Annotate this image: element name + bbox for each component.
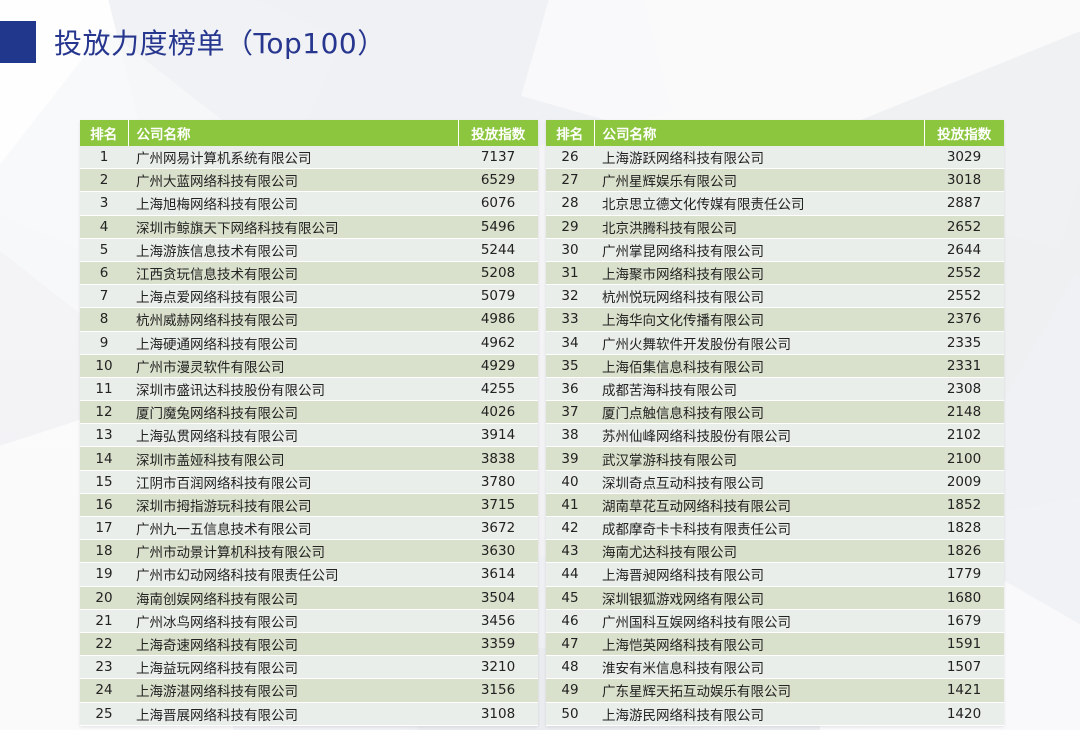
ranking-table-left-wrapper: 排名 公司名称 投放指数 1广州网易计算机系统有限公司71372广州大蓝网络科技… xyxy=(80,120,538,726)
cell-company-name: 江西贪玩信息技术有限公司 xyxy=(128,261,458,284)
table-row[interactable]: 11深圳市盛讯达科技股份有限公司4255 xyxy=(80,377,538,400)
table-row[interactable]: 8杭州威赫网络科技有限公司4986 xyxy=(80,308,538,331)
cell-index-value: 2887 xyxy=(924,192,1004,215)
cell-rank: 35 xyxy=(546,354,594,377)
cell-index-value: 3838 xyxy=(458,447,538,470)
cell-rank: 12 xyxy=(80,401,128,424)
cell-index-value: 4026 xyxy=(458,401,538,424)
cell-index-value: 2100 xyxy=(924,447,1004,470)
cell-company-name: 海南创娱网络科技有限公司 xyxy=(128,586,458,609)
cell-rank: 32 xyxy=(546,285,594,308)
table-row[interactable]: 49广东星辉天拓互动娱乐有限公司1421 xyxy=(546,679,1004,702)
cell-company-name: 上海佰集信息科技有限公司 xyxy=(594,354,924,377)
table-row[interactable]: 50上海游民网络科技有限公司1420 xyxy=(546,702,1004,725)
cell-rank: 19 xyxy=(80,563,128,586)
cell-company-name: 广州大蓝网络科技有限公司 xyxy=(128,169,458,192)
cell-index-value: 1421 xyxy=(924,679,1004,702)
cell-rank: 25 xyxy=(80,702,128,725)
page-header: 投放力度榜单（Top100） xyxy=(0,20,386,64)
cell-rank: 27 xyxy=(546,169,594,192)
cell-rank: 3 xyxy=(80,192,128,215)
table-row[interactable]: 46广州国科互娱网络科技有限公司1679 xyxy=(546,609,1004,632)
table-row[interactable]: 26上海游跃网络科技有限公司3029 xyxy=(546,146,1004,169)
cell-company-name: 成都摩奇卡卡科技有限责任公司 xyxy=(594,517,924,540)
cell-rank: 13 xyxy=(80,424,128,447)
cell-index-value: 5496 xyxy=(458,215,538,238)
cell-company-name: 武汉掌游科技有限公司 xyxy=(594,447,924,470)
column-header-index: 投放指数 xyxy=(458,120,538,146)
table-row[interactable]: 20海南创娱网络科技有限公司3504 xyxy=(80,586,538,609)
table-row[interactable]: 10广州市漫灵软件有限公司4929 xyxy=(80,354,538,377)
table-row[interactable]: 36成都苦海科技有限公司2308 xyxy=(546,377,1004,400)
table-row[interactable]: 23上海益玩网络科技有限公司3210 xyxy=(80,656,538,679)
table-header-row: 排名 公司名称 投放指数 xyxy=(546,120,1004,146)
table-row[interactable]: 25上海晋展网络科技有限公司3108 xyxy=(80,702,538,725)
table-row[interactable]: 16深圳市拇指游玩科技有限公司3715 xyxy=(80,493,538,516)
cell-company-name: 厦门魔兔网络科技有限公司 xyxy=(128,401,458,424)
cell-rank: 38 xyxy=(546,424,594,447)
cell-company-name: 广州火舞软件开发股份有限公司 xyxy=(594,331,924,354)
cell-company-name: 广东星辉天拓互动娱乐有限公司 xyxy=(594,679,924,702)
cell-index-value: 4929 xyxy=(458,354,538,377)
table-row[interactable]: 28北京思立德文化传媒有限责任公司2887 xyxy=(546,192,1004,215)
table-row[interactable]: 24上海游湛网络科技有限公司3156 xyxy=(80,679,538,702)
column-header-rank: 排名 xyxy=(546,120,594,146)
cell-company-name: 上海聚市网络科技有限公司 xyxy=(594,261,924,284)
table-row[interactable]: 31上海聚市网络科技有限公司2552 xyxy=(546,261,1004,284)
cell-company-name: 上海游跃网络科技有限公司 xyxy=(594,146,924,169)
table-row[interactable]: 5上海游族信息技术有限公司5244 xyxy=(80,238,538,261)
table-row[interactable]: 34广州火舞软件开发股份有限公司2335 xyxy=(546,331,1004,354)
table-row[interactable]: 1广州网易计算机系统有限公司7137 xyxy=(80,146,538,169)
cell-rank: 4 xyxy=(80,215,128,238)
cell-index-value: 2331 xyxy=(924,354,1004,377)
cell-company-name: 江阴市百润网络科技有限公司 xyxy=(128,470,458,493)
cell-company-name: 杭州悦玩网络科技有限公司 xyxy=(594,285,924,308)
cell-rank: 34 xyxy=(546,331,594,354)
cell-company-name: 广州星辉娱乐有限公司 xyxy=(594,169,924,192)
table-row[interactable]: 18广州市动景计算机科技有限公司3630 xyxy=(80,540,538,563)
cell-company-name: 厦门点触信息科技有限公司 xyxy=(594,401,924,424)
cell-index-value: 2308 xyxy=(924,377,1004,400)
cell-index-value: 3210 xyxy=(458,656,538,679)
cell-rank: 50 xyxy=(546,702,594,725)
cell-index-value: 1591 xyxy=(924,632,1004,655)
cell-rank: 11 xyxy=(80,377,128,400)
cell-company-name: 广州市动景计算机科技有限公司 xyxy=(128,540,458,563)
cell-rank: 40 xyxy=(546,470,594,493)
cell-index-value: 5079 xyxy=(458,285,538,308)
table-row[interactable]: 2广州大蓝网络科技有限公司6529 xyxy=(80,169,538,192)
cell-index-value: 6529 xyxy=(458,169,538,192)
cell-rank: 26 xyxy=(546,146,594,169)
table-row[interactable]: 14深圳市盖娅科技有限公司3838 xyxy=(80,447,538,470)
table-row[interactable]: 6江西贪玩信息技术有限公司5208 xyxy=(80,261,538,284)
cell-company-name: 深圳市盛讯达科技股份有限公司 xyxy=(128,377,458,400)
table-row[interactable]: 7上海点爱网络科技有限公司5079 xyxy=(80,285,538,308)
cell-index-value: 3359 xyxy=(458,632,538,655)
table-row[interactable]: 33上海华向文化传播有限公司2376 xyxy=(546,308,1004,331)
table-row[interactable]: 15江阴市百润网络科技有限公司3780 xyxy=(80,470,538,493)
cell-rank: 2 xyxy=(80,169,128,192)
cell-index-value: 6076 xyxy=(458,192,538,215)
cell-rank: 43 xyxy=(546,540,594,563)
cell-index-value: 3156 xyxy=(458,679,538,702)
cell-index-value: 7137 xyxy=(458,146,538,169)
cell-rank: 15 xyxy=(80,470,128,493)
cell-index-value: 3780 xyxy=(458,470,538,493)
cell-rank: 49 xyxy=(546,679,594,702)
cell-index-value: 3456 xyxy=(458,609,538,632)
cell-index-value: 3715 xyxy=(458,493,538,516)
cell-rank: 44 xyxy=(546,563,594,586)
table-row[interactable]: 3上海旭梅网络科技有限公司6076 xyxy=(80,192,538,215)
cell-rank: 16 xyxy=(80,493,128,516)
cell-index-value: 1679 xyxy=(924,609,1004,632)
cell-company-name: 苏州仙峰网络科技股份有限公司 xyxy=(594,424,924,447)
table-row[interactable]: 48淮安有米信息科技有限公司1507 xyxy=(546,656,1004,679)
column-header-index: 投放指数 xyxy=(924,120,1004,146)
table-row[interactable]: 19广州市幻动网络科技有限责任公司3614 xyxy=(80,563,538,586)
cell-index-value: 1826 xyxy=(924,540,1004,563)
cell-index-value: 4986 xyxy=(458,308,538,331)
cell-rank: 28 xyxy=(546,192,594,215)
cell-index-value: 4255 xyxy=(458,377,538,400)
cell-rank: 10 xyxy=(80,354,128,377)
cell-rank: 45 xyxy=(546,586,594,609)
cell-index-value: 2552 xyxy=(924,285,1004,308)
cell-index-value: 1507 xyxy=(924,656,1004,679)
cell-company-name: 北京洪腾科技有限公司 xyxy=(594,215,924,238)
cell-rank: 46 xyxy=(546,609,594,632)
table-body-left: 1广州网易计算机系统有限公司71372广州大蓝网络科技有限公司65293上海旭梅… xyxy=(80,146,538,725)
cell-index-value: 3614 xyxy=(458,563,538,586)
table-head-right: 排名 公司名称 投放指数 xyxy=(546,120,1004,146)
cell-rank: 42 xyxy=(546,517,594,540)
cell-company-name: 深圳银狐游戏网络有限公司 xyxy=(594,586,924,609)
cell-index-value: 3018 xyxy=(924,169,1004,192)
cell-index-value: 5208 xyxy=(458,261,538,284)
page-title: 投放力度榜单（Top100） xyxy=(54,22,386,62)
cell-company-name: 深圳市拇指游玩科技有限公司 xyxy=(128,493,458,516)
cell-rank: 23 xyxy=(80,656,128,679)
cell-index-value: 1680 xyxy=(924,586,1004,609)
cell-company-name: 上海弘贯网络科技有限公司 xyxy=(128,424,458,447)
table-row[interactable]: 41湖南草花互动网络科技有限公司1852 xyxy=(546,493,1004,516)
cell-company-name: 杭州威赫网络科技有限公司 xyxy=(128,308,458,331)
table-body-right: 26上海游跃网络科技有限公司302927广州星辉娱乐有限公司301828北京思立… xyxy=(546,146,1004,725)
cell-index-value: 1852 xyxy=(924,493,1004,516)
cell-index-value: 3672 xyxy=(458,517,538,540)
ranking-table-right: 排名 公司名称 投放指数 26上海游跃网络科技有限公司302927广州星辉娱乐有… xyxy=(546,120,1004,726)
cell-index-value: 2552 xyxy=(924,261,1004,284)
cell-rank: 5 xyxy=(80,238,128,261)
table-row[interactable]: 44上海晋昶网络科技有限公司1779 xyxy=(546,563,1004,586)
cell-rank: 47 xyxy=(546,632,594,655)
cell-index-value: 1779 xyxy=(924,563,1004,586)
cell-index-value: 1828 xyxy=(924,517,1004,540)
cell-rank: 30 xyxy=(546,238,594,261)
cell-rank: 9 xyxy=(80,331,128,354)
column-header-company: 公司名称 xyxy=(128,120,458,146)
cell-index-value: 2652 xyxy=(924,215,1004,238)
cell-company-name: 上海益玩网络科技有限公司 xyxy=(128,656,458,679)
cell-company-name: 广州九一五信息技术有限公司 xyxy=(128,517,458,540)
table-row[interactable]: 32杭州悦玩网络科技有限公司2552 xyxy=(546,285,1004,308)
cell-index-value: 2335 xyxy=(924,331,1004,354)
column-header-rank: 排名 xyxy=(80,120,128,146)
table-header-row: 排名 公司名称 投放指数 xyxy=(80,120,538,146)
cell-company-name: 上海点爱网络科技有限公司 xyxy=(128,285,458,308)
table-row[interactable]: 13上海弘贯网络科技有限公司3914 xyxy=(80,424,538,447)
table-row[interactable]: 35上海佰集信息科技有限公司2331 xyxy=(546,354,1004,377)
cell-index-value: 3029 xyxy=(924,146,1004,169)
cell-rank: 6 xyxy=(80,261,128,284)
cell-rank: 36 xyxy=(546,377,594,400)
cell-index-value: 4962 xyxy=(458,331,538,354)
cell-rank: 17 xyxy=(80,517,128,540)
cell-company-name: 深圳市盖娅科技有限公司 xyxy=(128,447,458,470)
table-row[interactable]: 39武汉掌游科技有限公司2100 xyxy=(546,447,1004,470)
cell-rank: 22 xyxy=(80,632,128,655)
cell-rank: 24 xyxy=(80,679,128,702)
cell-index-value: 5244 xyxy=(458,238,538,261)
table-row[interactable]: 22上海奇速网络科技有限公司3359 xyxy=(80,632,538,655)
cell-company-name: 淮安有米信息科技有限公司 xyxy=(594,656,924,679)
cell-company-name: 上海华向文化传播有限公司 xyxy=(594,308,924,331)
table-row[interactable]: 43海南尤达科技有限公司1826 xyxy=(546,540,1004,563)
ranking-table-left: 排名 公司名称 投放指数 1广州网易计算机系统有限公司71372广州大蓝网络科技… xyxy=(80,120,538,726)
cell-company-name: 上海晋展网络科技有限公司 xyxy=(128,702,458,725)
column-header-company: 公司名称 xyxy=(594,120,924,146)
cell-index-value: 2009 xyxy=(924,470,1004,493)
cell-rank: 31 xyxy=(546,261,594,284)
cell-company-name: 上海游湛网络科技有限公司 xyxy=(128,679,458,702)
cell-rank: 48 xyxy=(546,656,594,679)
cell-index-value: 2102 xyxy=(924,424,1004,447)
table-row[interactable]: 38苏州仙峰网络科技股份有限公司2102 xyxy=(546,424,1004,447)
table-row[interactable]: 12厦门魔兔网络科技有限公司4026 xyxy=(80,401,538,424)
table-row[interactable]: 45深圳银狐游戏网络有限公司1680 xyxy=(546,586,1004,609)
cell-rank: 39 xyxy=(546,447,594,470)
cell-rank: 37 xyxy=(546,401,594,424)
table-row[interactable]: 37厦门点触信息科技有限公司2148 xyxy=(546,401,1004,424)
cell-rank: 33 xyxy=(546,308,594,331)
table-head-left: 排名 公司名称 投放指数 xyxy=(80,120,538,146)
cell-company-name: 上海奇速网络科技有限公司 xyxy=(128,632,458,655)
table-row[interactable]: 42成都摩奇卡卡科技有限责任公司1828 xyxy=(546,517,1004,540)
table-row[interactable]: 4深圳市鲸旗天下网络科技有限公司5496 xyxy=(80,215,538,238)
cell-company-name: 北京思立德文化传媒有限责任公司 xyxy=(594,192,924,215)
ranking-table-right-wrapper: 排名 公司名称 投放指数 26上海游跃网络科技有限公司302927广州星辉娱乐有… xyxy=(546,120,1004,726)
cell-company-name: 上海旭梅网络科技有限公司 xyxy=(128,192,458,215)
table-row[interactable]: 9上海硬通网络科技有限公司4962 xyxy=(80,331,538,354)
cell-index-value: 3108 xyxy=(458,702,538,725)
table-row[interactable]: 40深圳奇点互动科技有限公司2009 xyxy=(546,470,1004,493)
cell-rank: 18 xyxy=(80,540,128,563)
cell-rank: 41 xyxy=(546,493,594,516)
cell-company-name: 上海晋昶网络科技有限公司 xyxy=(594,563,924,586)
cell-rank: 1 xyxy=(80,146,128,169)
table-row[interactable]: 17广州九一五信息技术有限公司3672 xyxy=(80,517,538,540)
cell-index-value: 3504 xyxy=(458,586,538,609)
cell-company-name: 上海游民网络科技有限公司 xyxy=(594,702,924,725)
cell-rank: 14 xyxy=(80,447,128,470)
cell-index-value: 3630 xyxy=(458,540,538,563)
cell-rank: 8 xyxy=(80,308,128,331)
table-row[interactable]: 21广州冰鸟网络科技有限公司3456 xyxy=(80,609,538,632)
cell-company-name: 湖南草花互动网络科技有限公司 xyxy=(594,493,924,516)
cell-company-name: 广州网易计算机系统有限公司 xyxy=(128,146,458,169)
cell-company-name: 广州市漫灵软件有限公司 xyxy=(128,354,458,377)
cell-company-name: 海南尤达科技有限公司 xyxy=(594,540,924,563)
cell-company-name: 上海恺英网络科技有限公司 xyxy=(594,632,924,655)
cell-company-name: 广州掌昆网络科技有限公司 xyxy=(594,238,924,261)
cell-index-value: 2148 xyxy=(924,401,1004,424)
cell-company-name: 深圳市鲸旗天下网络科技有限公司 xyxy=(128,215,458,238)
cell-company-name: 深圳奇点互动科技有限公司 xyxy=(594,470,924,493)
table-row[interactable]: 30广州掌昆网络科技有限公司2644 xyxy=(546,238,1004,261)
cell-company-name: 上海硬通网络科技有限公司 xyxy=(128,331,458,354)
table-row[interactable]: 29北京洪腾科技有限公司2652 xyxy=(546,215,1004,238)
cell-rank: 20 xyxy=(80,586,128,609)
cell-company-name: 广州市幻动网络科技有限责任公司 xyxy=(128,563,458,586)
cell-company-name: 成都苦海科技有限公司 xyxy=(594,377,924,400)
cell-company-name: 上海游族信息技术有限公司 xyxy=(128,238,458,261)
table-row[interactable]: 27广州星辉娱乐有限公司3018 xyxy=(546,169,1004,192)
cell-company-name: 广州冰鸟网络科技有限公司 xyxy=(128,609,458,632)
cell-index-value: 3914 xyxy=(458,424,538,447)
ranking-tables-container: 排名 公司名称 投放指数 1广州网易计算机系统有限公司71372广州大蓝网络科技… xyxy=(80,120,1008,726)
cell-company-name: 广州国科互娱网络科技有限公司 xyxy=(594,609,924,632)
table-row[interactable]: 47上海恺英网络科技有限公司1591 xyxy=(546,632,1004,655)
cell-index-value: 2376 xyxy=(924,308,1004,331)
cell-rank: 7 xyxy=(80,285,128,308)
title-accent-square xyxy=(0,21,36,63)
cell-index-value: 2644 xyxy=(924,238,1004,261)
cell-rank: 29 xyxy=(546,215,594,238)
cell-index-value: 1420 xyxy=(924,702,1004,725)
cell-rank: 21 xyxy=(80,609,128,632)
